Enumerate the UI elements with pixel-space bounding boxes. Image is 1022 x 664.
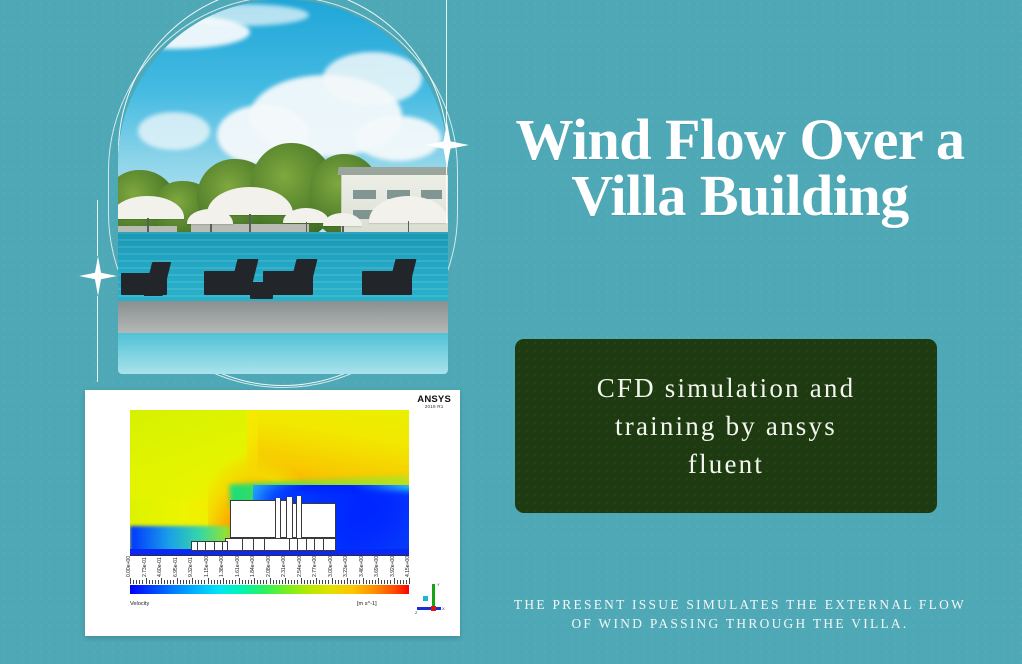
colorbar-tick-label: 2.08e+00 [266,556,272,577]
ansys-logo: ANSYS 2019 R1 [417,395,451,410]
colorbar-tick-label: 4.60e-01 [157,557,163,577]
colorbar-tick-label: 6.95e-01 [173,557,179,577]
colorbar-tick-label: 1.15e+00 [204,556,210,577]
colorbar-tick-label: 2.31e+00 [281,556,287,577]
page-title: Wind Flow Over a Villa Building [470,112,1010,223]
highlight-box: CFD simulation and training by ansys flu… [515,339,937,513]
photo-lounge-chair [362,271,412,295]
highlight-line-3: fluent [597,445,856,483]
highlight-box-text: CFD simulation and training by ansys flu… [597,369,856,484]
hero-photo [118,0,448,374]
caption-line-1: THE PRESENT ISSUE SIMULATES THE EXTERNAL… [470,596,1010,615]
velocity-colorbar [130,585,409,594]
highlight-line-1: CFD simulation and [597,369,856,407]
colorbar-tick-labels: 0.00e+002.73e-014.60e-016.95e-019.32e-01… [130,521,409,577]
photo-pool-lower [118,333,448,374]
photo-cloud [323,52,422,104]
colorbar-tick-label: 2.54e+00 [297,556,303,577]
ansys-version: 2019 R1 [417,405,451,410]
photo-side-table [250,282,273,299]
colorbar-tick-label: 9.32e-01 [188,557,194,577]
colorbar-tick-label: 1.38e+00 [219,556,225,577]
photo-deck [118,301,448,333]
colorbar-unit: [m s^-1] [357,601,377,607]
decor-vertical-rule [97,200,98,256]
photo-lounge-chair [204,271,254,295]
highlight-line-2: training by ansys [597,407,856,445]
poster-canvas: ANSYS 2019 R1 [0,0,1022,664]
axis-label-y: Y [437,582,440,587]
cfd-result-card: ANSYS 2019 R1 [85,390,460,636]
axis-label-z: Z [415,610,417,615]
photo-lounge-chair [121,273,167,295]
colorbar-tick-label: 4.15e+00 [405,556,411,577]
colorbar-tick-label: 2.73e-01 [142,557,148,577]
colorbar-ticks [130,578,409,584]
caption-line-2: OF WIND PASSING THROUGH THE VILLA. [470,615,1010,634]
axis-label-x: X [442,606,445,611]
colorbar-tick-label: 3.92e+00 [390,556,396,577]
decor-vertical-rule [446,0,447,128]
decor-vertical-rule [97,296,98,382]
colorbar-tick-label: 3.69e+00 [374,556,380,577]
footer-caption: THE PRESENT ISSUE SIMULATES THE EXTERNAL… [470,596,1010,633]
axis-triad-icon: Y X Z [415,582,455,620]
title-line-2: Villa Building [470,168,1010,224]
colorbar-title: Velocity [130,601,149,607]
colorbar-tick-label: 3.00e+00 [328,556,334,577]
colorbar-tick-label: 3.23e+00 [343,556,349,577]
colorbar-tick-label: 0.00e+00 [126,556,132,577]
colorbar-tick-label: 3.46e+00 [359,556,365,577]
decor-vertical-rule [446,166,447,224]
colorbar-tick-label: 2.77e+00 [312,556,318,577]
colorbar-tick-label: 1.61e+00 [235,556,241,577]
hero-photo-frame [78,0,478,394]
colorbar-tick-label: 1.84e+00 [250,556,256,577]
photo-treeline [118,127,448,239]
photo-cloud [177,4,309,26]
